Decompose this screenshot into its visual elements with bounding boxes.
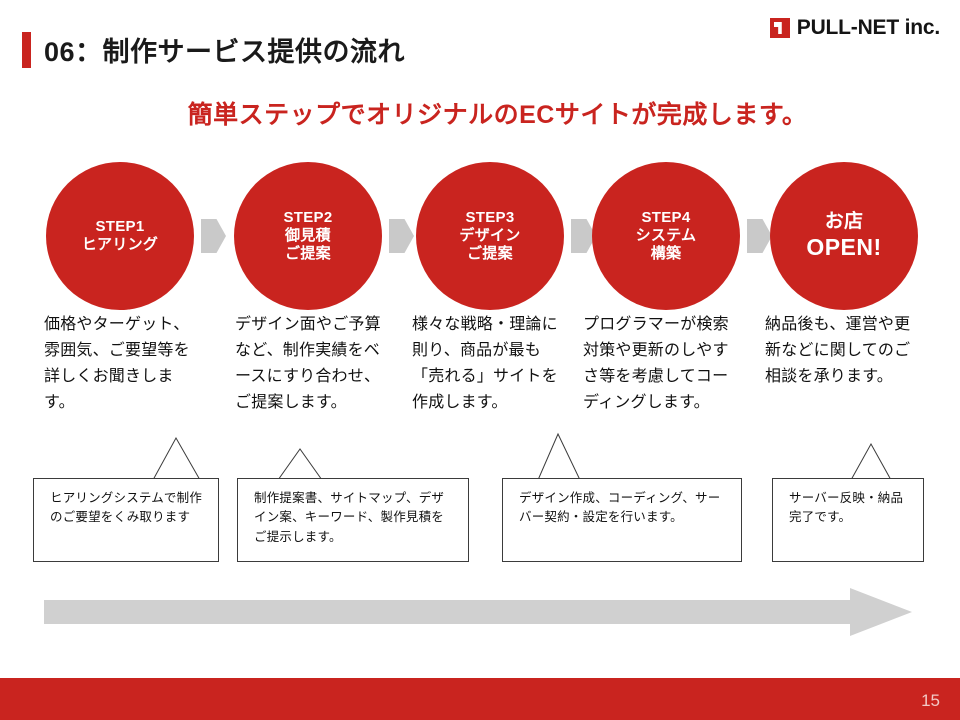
step-description-5: 納品後も、運営や更新などに関してのご相談を承ります。	[765, 312, 925, 390]
step-label: お店	[825, 211, 864, 233]
brand-logo-text: PULL-NET inc.	[797, 16, 940, 40]
progress-arrow-head	[850, 588, 912, 636]
step-circle-5: お店 OPEN!	[770, 162, 918, 310]
step-sub: システム	[636, 227, 697, 245]
chevron-right-icon-1	[201, 219, 226, 253]
step-sub2: 構築	[651, 245, 682, 263]
callout-box-3: デザイン作成、コーディング、サーバー契約・設定を行います。	[502, 478, 742, 562]
step-flow: STEP1 ヒアリング STEP2 御見積 ご提案 STEP3 デザイン ご提案…	[46, 162, 918, 310]
callout-box-1: ヒアリングシステムで制作のご要望をくみ取ります	[33, 478, 219, 562]
chevron-right-icon-4	[747, 219, 772, 253]
step-circle-1: STEP1 ヒアリング	[46, 162, 194, 310]
callout-box-4: サーバー反映・納品完了です。	[772, 478, 924, 562]
step-description-3: 様々な戦略・理論に則り、商品が最も「売れる」サイトを作成します。	[412, 312, 572, 416]
step-sub: 御見積	[285, 227, 331, 245]
chevron-right-icon-2	[389, 219, 414, 253]
step-circle-2: STEP2 御見積 ご提案	[234, 162, 382, 310]
step-sub: OPEN!	[806, 234, 881, 261]
step-sub2: ご提案	[467, 245, 513, 263]
step-label: STEP3	[465, 209, 514, 227]
footer-bar	[0, 678, 960, 720]
step-description-1: 価格やターゲット、雰囲気、ご要望等を詳しくお聞きします。	[44, 312, 204, 416]
page-title-text: 06：制作サービス提供の流れ	[44, 30, 405, 69]
step-label: STEP1	[95, 218, 144, 236]
step-circle-4: STEP4 システム 構築	[592, 162, 740, 310]
page-number: 15	[921, 691, 940, 711]
pullnet-square-icon	[770, 18, 790, 38]
page-title: 06：制作サービス提供の流れ	[22, 30, 405, 69]
brand-logo: PULL-NET inc.	[770, 16, 940, 40]
progress-arrow-shaft	[44, 600, 854, 624]
progress-arrow-icon	[44, 588, 912, 636]
step-label: STEP2	[283, 209, 332, 227]
step-descriptions: 価格やターゲット、雰囲気、ご要望等を詳しくお聞きします。 デザイン面やご予算など…	[0, 312, 960, 442]
step-circle-3: STEP3 デザイン ご提案	[416, 162, 564, 310]
subtitle: 簡単ステップでオリジナルのECサイトが完成します。	[0, 95, 960, 131]
callout-box-2: 制作提案書、サイトマップ、デザイン案、キーワード、製作見積をご提示します。	[237, 478, 469, 562]
step-sub: デザイン	[459, 227, 520, 245]
step-description-2: デザイン面やご予算など、制作実績をベースにすり合わせ、ご提案します。	[235, 312, 395, 416]
step-description-4: プログラマーが検索対策や更新のしやすさ等を考慮してコーディングします。	[583, 312, 743, 416]
step-sub: ヒアリング	[82, 236, 159, 254]
step-label: STEP4	[641, 209, 690, 227]
step-sub2: ご提案	[285, 245, 331, 263]
title-accent-bar	[22, 32, 31, 68]
